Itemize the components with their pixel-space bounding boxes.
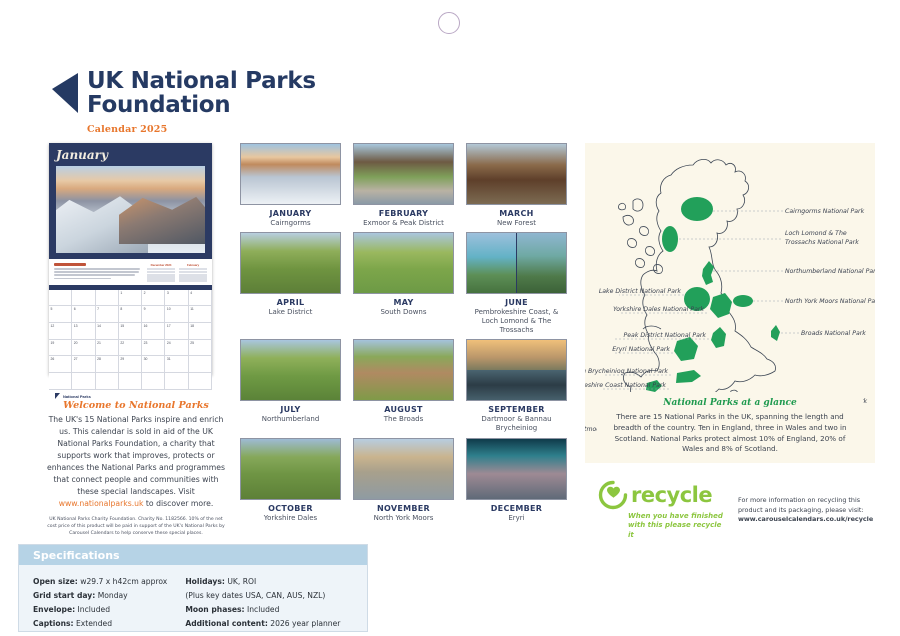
month-photo-part bbox=[241, 233, 340, 293]
map-label-pembrokeshire: Pembrokeshire Coast National Park bbox=[585, 381, 666, 389]
preview-date-number: 27 bbox=[74, 357, 78, 361]
preview-date-number: 7 bbox=[97, 307, 99, 311]
preview-date-cell: 10 bbox=[165, 306, 188, 323]
preview-date-number: 16 bbox=[144, 324, 148, 328]
preview-date-number: 18 bbox=[190, 324, 194, 328]
map-label-yorkshire-dales: Yorkshire Dales National Park bbox=[613, 305, 704, 313]
park-shape-peak-district bbox=[711, 327, 726, 348]
preview-date-number: 21 bbox=[97, 341, 101, 345]
specification-label: Additional content: bbox=[185, 619, 268, 628]
preview-date-number: 13 bbox=[74, 324, 78, 328]
park-shape-broads bbox=[771, 325, 780, 341]
map-label-north-york-moors: North York Moors National Park bbox=[785, 297, 875, 305]
preview-date-cell bbox=[142, 373, 165, 390]
preview-photo bbox=[56, 166, 205, 253]
preview-date-number: 20 bbox=[74, 341, 78, 345]
preview-date-cell: 22 bbox=[119, 340, 142, 357]
preview-footer-text: National Parks bbox=[63, 394, 91, 399]
month-photo bbox=[353, 232, 454, 294]
map-label-cairngorms: Cairngorms National Park bbox=[785, 207, 865, 215]
preview-date-number: 23 bbox=[144, 341, 148, 345]
preview-date-number: 1 bbox=[120, 291, 122, 295]
preview-date-cell: 3 bbox=[165, 290, 188, 307]
month-thumbnail: JUNEPembrokeshire Coast, & Loch Lomond &… bbox=[466, 232, 567, 335]
preview-caption-text bbox=[54, 263, 143, 281]
preview-date-cell bbox=[72, 290, 95, 307]
preview-date-cell: 28 bbox=[96, 356, 119, 373]
month-photo bbox=[466, 339, 567, 401]
specification-row: Envelope: Included bbox=[33, 603, 167, 617]
glance-heading: National Parks at a glance bbox=[597, 398, 863, 408]
map-label-northumberland: Northumberland National Park bbox=[785, 267, 875, 275]
preview-date-number: 26 bbox=[51, 357, 55, 361]
specification-label: Grid start day: bbox=[33, 591, 95, 600]
preview-date-cell: 17 bbox=[165, 323, 188, 340]
footer-bar: Specifications Open size: w29.7 x h42cm … bbox=[0, 541, 900, 636]
preview-date-grid: 1234567891011121314151617181920212223242… bbox=[49, 290, 212, 390]
month-photo-part bbox=[517, 233, 567, 293]
map-label-loch-lomond-2: Trossachs National Park bbox=[785, 238, 859, 246]
month-thumbnail: NOVEMBERNorth York Moors bbox=[353, 438, 454, 523]
specification-row: Captions: Extended bbox=[33, 617, 167, 631]
month-photo-part bbox=[241, 439, 340, 499]
month-photo bbox=[240, 143, 341, 205]
recycle-tagline: When you have finished with this please … bbox=[628, 512, 726, 540]
park-shape-loch-lomond bbox=[662, 226, 678, 252]
calendar-back-cover-page: UK National Parks Foundation Calendar 20… bbox=[0, 0, 900, 636]
month-photo bbox=[240, 339, 341, 401]
specification-row: (Plus key dates USA, CAN, AUS, NZL) bbox=[185, 589, 340, 603]
specification-row: Additional content: 2026 year planner bbox=[185, 617, 340, 631]
specifications-panel: Specifications Open size: w29.7 x h42cm … bbox=[18, 544, 368, 632]
month-name: APRIL bbox=[240, 298, 341, 307]
calendar-preview: January December 2024 Fe bbox=[49, 143, 212, 375]
map-label-eryri: Eryri National Park bbox=[612, 345, 670, 353]
specification-value: w29.7 x h42cm approx bbox=[78, 577, 167, 586]
preview-date-number: 17 bbox=[167, 324, 171, 328]
welcome-body: The UK's 15 National Parks inspire and e… bbox=[44, 414, 228, 510]
preview-date-number: 3 bbox=[167, 291, 169, 295]
month-photo bbox=[466, 143, 567, 205]
recycle-logo: recycle When you have finished with this… bbox=[598, 480, 726, 540]
month-thumbnail: AUGUSTThe Broads bbox=[353, 339, 454, 433]
preview-date-number: 28 bbox=[97, 357, 101, 361]
month-thumbnail: APRILLake District bbox=[240, 232, 341, 335]
preview-date-number: 31 bbox=[167, 357, 171, 361]
month-place: New Forest bbox=[466, 219, 567, 228]
triangle-mark-icon bbox=[52, 73, 78, 113]
welcome-body-after: to discover more. bbox=[143, 499, 213, 508]
preview-date-cell: 21 bbox=[96, 340, 119, 357]
preview-date-cell bbox=[49, 373, 72, 390]
preview-header: January bbox=[49, 143, 212, 259]
specification-label: Envelope: bbox=[33, 605, 75, 614]
month-name: JULY bbox=[240, 405, 341, 414]
month-photo-part bbox=[467, 144, 566, 204]
month-place: South Downs bbox=[353, 308, 454, 317]
preview-date-cell: 30 bbox=[142, 356, 165, 373]
preview-date-cell: 1 bbox=[119, 290, 142, 307]
preview-date-number: 5 bbox=[51, 307, 53, 311]
preview-date-cell bbox=[96, 373, 119, 390]
preview-date-cell: 23 bbox=[142, 340, 165, 357]
preview-date-cell: 13 bbox=[72, 323, 95, 340]
month-photo-part bbox=[354, 233, 453, 293]
recycle-word: recycle bbox=[631, 483, 712, 507]
month-name: JUNE bbox=[466, 298, 567, 307]
preview-date-cell bbox=[49, 290, 72, 307]
month-photo bbox=[466, 232, 567, 294]
month-photo-part bbox=[241, 340, 340, 400]
specification-row: Holidays: UK, ROI bbox=[185, 575, 340, 589]
month-place: Exmoor & Peak District bbox=[353, 219, 454, 228]
preview-date-cell: 11 bbox=[189, 306, 212, 323]
month-thumbnail: FEBRUARYExmoor & Peak District bbox=[353, 143, 454, 228]
preview-date-cell: 31 bbox=[165, 356, 188, 373]
preview-date-number: 25 bbox=[190, 341, 194, 345]
recycle-info-line2: product and its packaging, please visit: bbox=[738, 506, 883, 516]
month-name: NOVEMBER bbox=[353, 504, 454, 513]
preview-month-label: January bbox=[56, 148, 205, 162]
welcome-heading: Welcome to National Parks bbox=[44, 400, 228, 411]
month-thumbnail: OCTOBERYorkshire Dales bbox=[240, 438, 341, 523]
map-label-bannau: Bannau Brycheiniog National Park bbox=[585, 367, 668, 375]
month-thumbnail: SEPTEMBERDartmoor & Bannau Brycheiniog bbox=[466, 339, 567, 433]
month-name: FEBRUARY bbox=[353, 209, 454, 218]
specification-row: Grid start day: Monday bbox=[33, 589, 167, 603]
specifications-title: Specifications bbox=[33, 549, 120, 562]
month-photo-part bbox=[354, 439, 453, 499]
preview-date-number: 12 bbox=[51, 324, 55, 328]
preview-date-cell: 18 bbox=[189, 323, 212, 340]
recycle-tagline-line2: with this please recycle it bbox=[628, 521, 726, 540]
park-shape-cairngorms bbox=[681, 197, 713, 221]
recycle-info: For more information on recycling this p… bbox=[738, 496, 883, 525]
month-name: MAY bbox=[353, 298, 454, 307]
month-photo-part bbox=[467, 340, 566, 370]
specifications-columns: Open size: w29.7 x h42cm approxGrid star… bbox=[19, 565, 367, 631]
preview-date-cell: 26 bbox=[49, 356, 72, 373]
month-photo-part bbox=[241, 144, 340, 204]
map-label-lake-district: Lake District National Park bbox=[599, 287, 682, 295]
preview-date-cell bbox=[96, 290, 119, 307]
recycle-info-line1: For more information on recycling this bbox=[738, 496, 883, 506]
specification-row: Moon phases: Included bbox=[185, 603, 340, 617]
preview-date-cell: 8 bbox=[119, 306, 142, 323]
national-parks-at-a-glance: National Parks at a glance There are 15 … bbox=[597, 392, 863, 458]
month-photo bbox=[353, 438, 454, 500]
preview-date-number: 10 bbox=[167, 307, 171, 311]
specification-row: Open size: w29.7 x h42cm approx bbox=[33, 575, 167, 589]
punch-hole-icon bbox=[438, 12, 460, 34]
specifications-right-column: Holidays: UK, ROI(Plus key dates USA, CA… bbox=[185, 575, 340, 631]
month-thumbnail-grid: JANUARYCairngormsFEBRUARYExmoor & Peak D… bbox=[240, 143, 570, 523]
preview-date-number: 19 bbox=[51, 341, 55, 345]
preview-date-cell bbox=[165, 373, 188, 390]
preview-date-cell: 19 bbox=[49, 340, 72, 357]
preview-date-cell bbox=[189, 373, 212, 390]
preview-date-number: 15 bbox=[120, 324, 124, 328]
preview-date-cell: 15 bbox=[119, 323, 142, 340]
preview-date-cell: 27 bbox=[72, 356, 95, 373]
recycle-heart-icon bbox=[598, 480, 628, 510]
brand-line-1: UK National Parks bbox=[87, 70, 316, 93]
month-photo-part bbox=[467, 370, 566, 400]
preview-date-number: 2 bbox=[144, 291, 146, 295]
month-photo bbox=[240, 438, 341, 500]
specification-value: (Plus key dates USA, CAN, AUS, NZL) bbox=[185, 591, 325, 600]
nationalparks-link[interactable]: www.nationalparks.uk bbox=[59, 499, 144, 508]
preview-mini-months: December 2024 February bbox=[147, 263, 207, 282]
month-photo bbox=[353, 143, 454, 205]
specification-value: UK, ROI bbox=[225, 577, 256, 586]
preview-date-cell bbox=[189, 356, 212, 373]
month-place: The Broads bbox=[353, 415, 454, 424]
welcome-fine-print: UK National Parks Charity Foundation. Ch… bbox=[44, 516, 228, 538]
month-place: North York Moors bbox=[353, 514, 454, 523]
preview-date-cell bbox=[119, 373, 142, 390]
month-name: SEPTEMBER bbox=[466, 405, 567, 414]
brand-logo: UK National Parks Foundation Calendar 20… bbox=[52, 70, 316, 135]
preview-caption-block: December 2024 February bbox=[49, 259, 212, 285]
preview-date-cell: 24 bbox=[165, 340, 188, 357]
preview-date-number: 4 bbox=[190, 291, 192, 295]
glance-body: There are 15 National Parks in the UK, s… bbox=[597, 412, 863, 455]
welcome-body-before: The UK's 15 National Parks inspire and e… bbox=[47, 415, 225, 496]
preview-date-cell: 12 bbox=[49, 323, 72, 340]
park-shape-northumberland bbox=[702, 261, 714, 285]
specifications-left-column: Open size: w29.7 x h42cm approxGrid star… bbox=[33, 575, 167, 631]
brand-line-2: Foundation bbox=[87, 94, 316, 117]
month-photo-part bbox=[467, 439, 566, 499]
preview-date-cell: 9 bbox=[142, 306, 165, 323]
preview-date-cell: 25 bbox=[189, 340, 212, 357]
month-name: DECEMBER bbox=[466, 504, 567, 513]
preview-date-number: 30 bbox=[144, 357, 148, 361]
park-shape-north-york-moors bbox=[733, 295, 753, 307]
month-name: AUGUST bbox=[353, 405, 454, 414]
park-shape-yorkshire-dales bbox=[710, 293, 732, 318]
preview-date-cell: 29 bbox=[119, 356, 142, 373]
month-photo bbox=[240, 232, 341, 294]
preview-date-cell: 4 bbox=[189, 290, 212, 307]
preview-date-number: 11 bbox=[190, 307, 194, 311]
specification-value: Extended bbox=[74, 619, 112, 628]
mini-calendar-cell bbox=[171, 279, 175, 281]
map-label-loch-lomond-1: Loch Lomond & The bbox=[785, 230, 847, 237]
specification-value: Included bbox=[75, 605, 110, 614]
specifications-header: Specifications bbox=[19, 545, 367, 565]
preview-date-number: 8 bbox=[120, 307, 122, 311]
month-place: Cairngorms bbox=[240, 219, 341, 228]
specification-label: Moon phases: bbox=[185, 605, 244, 614]
recycle-block: recycle When you have finished with this… bbox=[598, 480, 883, 540]
specification-value: 2026 year planner bbox=[268, 619, 341, 628]
preview-date-cell bbox=[72, 373, 95, 390]
month-thumbnail: MARCHNew Forest bbox=[466, 143, 567, 228]
preview-grid-area: December 2024 February 12345678910111213… bbox=[49, 259, 212, 403]
specification-value: Included bbox=[245, 605, 280, 614]
month-photo bbox=[353, 339, 454, 401]
month-name: JANUARY bbox=[240, 209, 341, 218]
preview-date-cell: 14 bbox=[96, 323, 119, 340]
month-thumbnail: JANUARYCairngorms bbox=[240, 143, 341, 228]
month-name: OCTOBER bbox=[240, 504, 341, 513]
park-shape-eryri bbox=[674, 337, 698, 361]
month-thumbnail: JULYNorthumberland bbox=[240, 339, 341, 433]
month-photo-part bbox=[467, 233, 517, 293]
mini-calendar-cell bbox=[203, 279, 207, 281]
welcome-block: Welcome to National Parks The UK's 15 Na… bbox=[44, 400, 228, 538]
month-place: Eryri bbox=[466, 514, 567, 523]
month-place: Lake District bbox=[240, 308, 341, 317]
specification-label: Open size: bbox=[33, 577, 78, 586]
brand-subtitle: Calendar 2025 bbox=[87, 124, 316, 135]
month-photo-part bbox=[354, 144, 453, 204]
month-place: Dartmoor & Bannau Brycheiniog bbox=[466, 415, 567, 433]
preview-date-number: 29 bbox=[120, 357, 124, 361]
preview-date-number: 9 bbox=[144, 307, 146, 311]
preview-date-number: 6 bbox=[74, 307, 76, 311]
preview-date-cell: 2 bbox=[142, 290, 165, 307]
month-place: Pembrokeshire Coast, & Loch Lomond & The… bbox=[466, 308, 567, 335]
preview-date-cell: 7 bbox=[96, 306, 119, 323]
preview-date-cell: 20 bbox=[72, 340, 95, 357]
preview-date-number: 22 bbox=[120, 341, 124, 345]
month-name: MARCH bbox=[466, 209, 567, 218]
month-photo-part bbox=[354, 340, 453, 400]
month-place: Northumberland bbox=[240, 415, 341, 424]
specification-label: Holidays: bbox=[185, 577, 225, 586]
preview-date-number: 24 bbox=[167, 341, 171, 345]
month-place: Yorkshire Dales bbox=[240, 514, 341, 523]
preview-date-number: 14 bbox=[97, 324, 101, 328]
preview-date-cell: 5 bbox=[49, 306, 72, 323]
preview-date-cell: 6 bbox=[72, 306, 95, 323]
recycle-info-url[interactable]: www.carouselcalendars.co.uk/recycle bbox=[738, 515, 873, 523]
map-label-broads: Broads National Park bbox=[801, 329, 866, 337]
month-photo bbox=[466, 438, 567, 500]
specification-value: Monday bbox=[95, 591, 127, 600]
month-thumbnail: MAYSouth Downs bbox=[353, 232, 454, 335]
preview-date-cell: 16 bbox=[142, 323, 165, 340]
recycle-tagline-line1: When you have finished bbox=[628, 512, 726, 521]
month-thumbnail: DECEMBEREryri bbox=[466, 438, 567, 523]
specification-label: Captions: bbox=[33, 619, 74, 628]
map-label-peak-district: Peak District National Park bbox=[624, 331, 707, 339]
preview-footer-mark-icon bbox=[55, 393, 60, 399]
park-shape-bannau-brycheiniog bbox=[676, 370, 701, 383]
